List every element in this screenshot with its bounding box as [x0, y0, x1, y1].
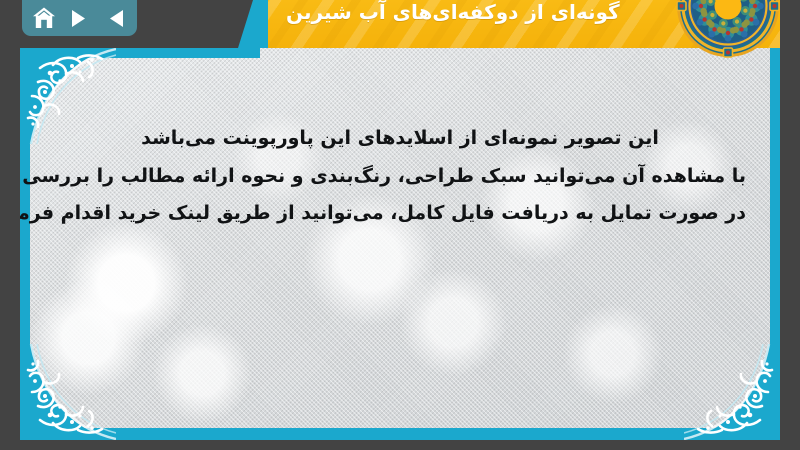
slide-body-text: این تصویر نمونه‌ای از اسلایدهای این پاور…	[54, 120, 746, 233]
body-line-2: با مشاهده آن می‌توانید سبک طراحی، رنگ‌بن…	[54, 158, 746, 196]
title-line-2: گونه‌ای از دوکفه‌ای‌های آب شیرین	[286, 0, 620, 26]
home-button[interactable]	[31, 5, 57, 31]
navigation-bar	[22, 0, 137, 36]
back-button[interactable]	[103, 5, 129, 31]
home-icon	[32, 7, 56, 29]
forward-button[interactable]	[67, 5, 93, 31]
triangle-left-icon	[107, 9, 124, 28]
filigree-corner-icon-bottom-left	[20, 344, 116, 440]
body-line-1: این تصویر نمونه‌ای از اسلایدهای این پاور…	[54, 120, 746, 158]
body-line-3: در صورت تمایل به دریافت فایل کامل، می‌تو…	[54, 195, 746, 233]
slide-title-banner: کامل تحلیل رابطه ابعاد بدنی و وزن در گون…	[238, 0, 780, 48]
frame-bar-bottom	[20, 428, 780, 440]
filigree-corner-icon-bottom-right	[684, 344, 780, 440]
persian-medallion-icon	[676, 0, 780, 58]
slide-canvas: این تصویر نمونه‌ای از اسلایدهای این پاور…	[20, 48, 780, 440]
triangle-right-icon	[71, 9, 88, 28]
